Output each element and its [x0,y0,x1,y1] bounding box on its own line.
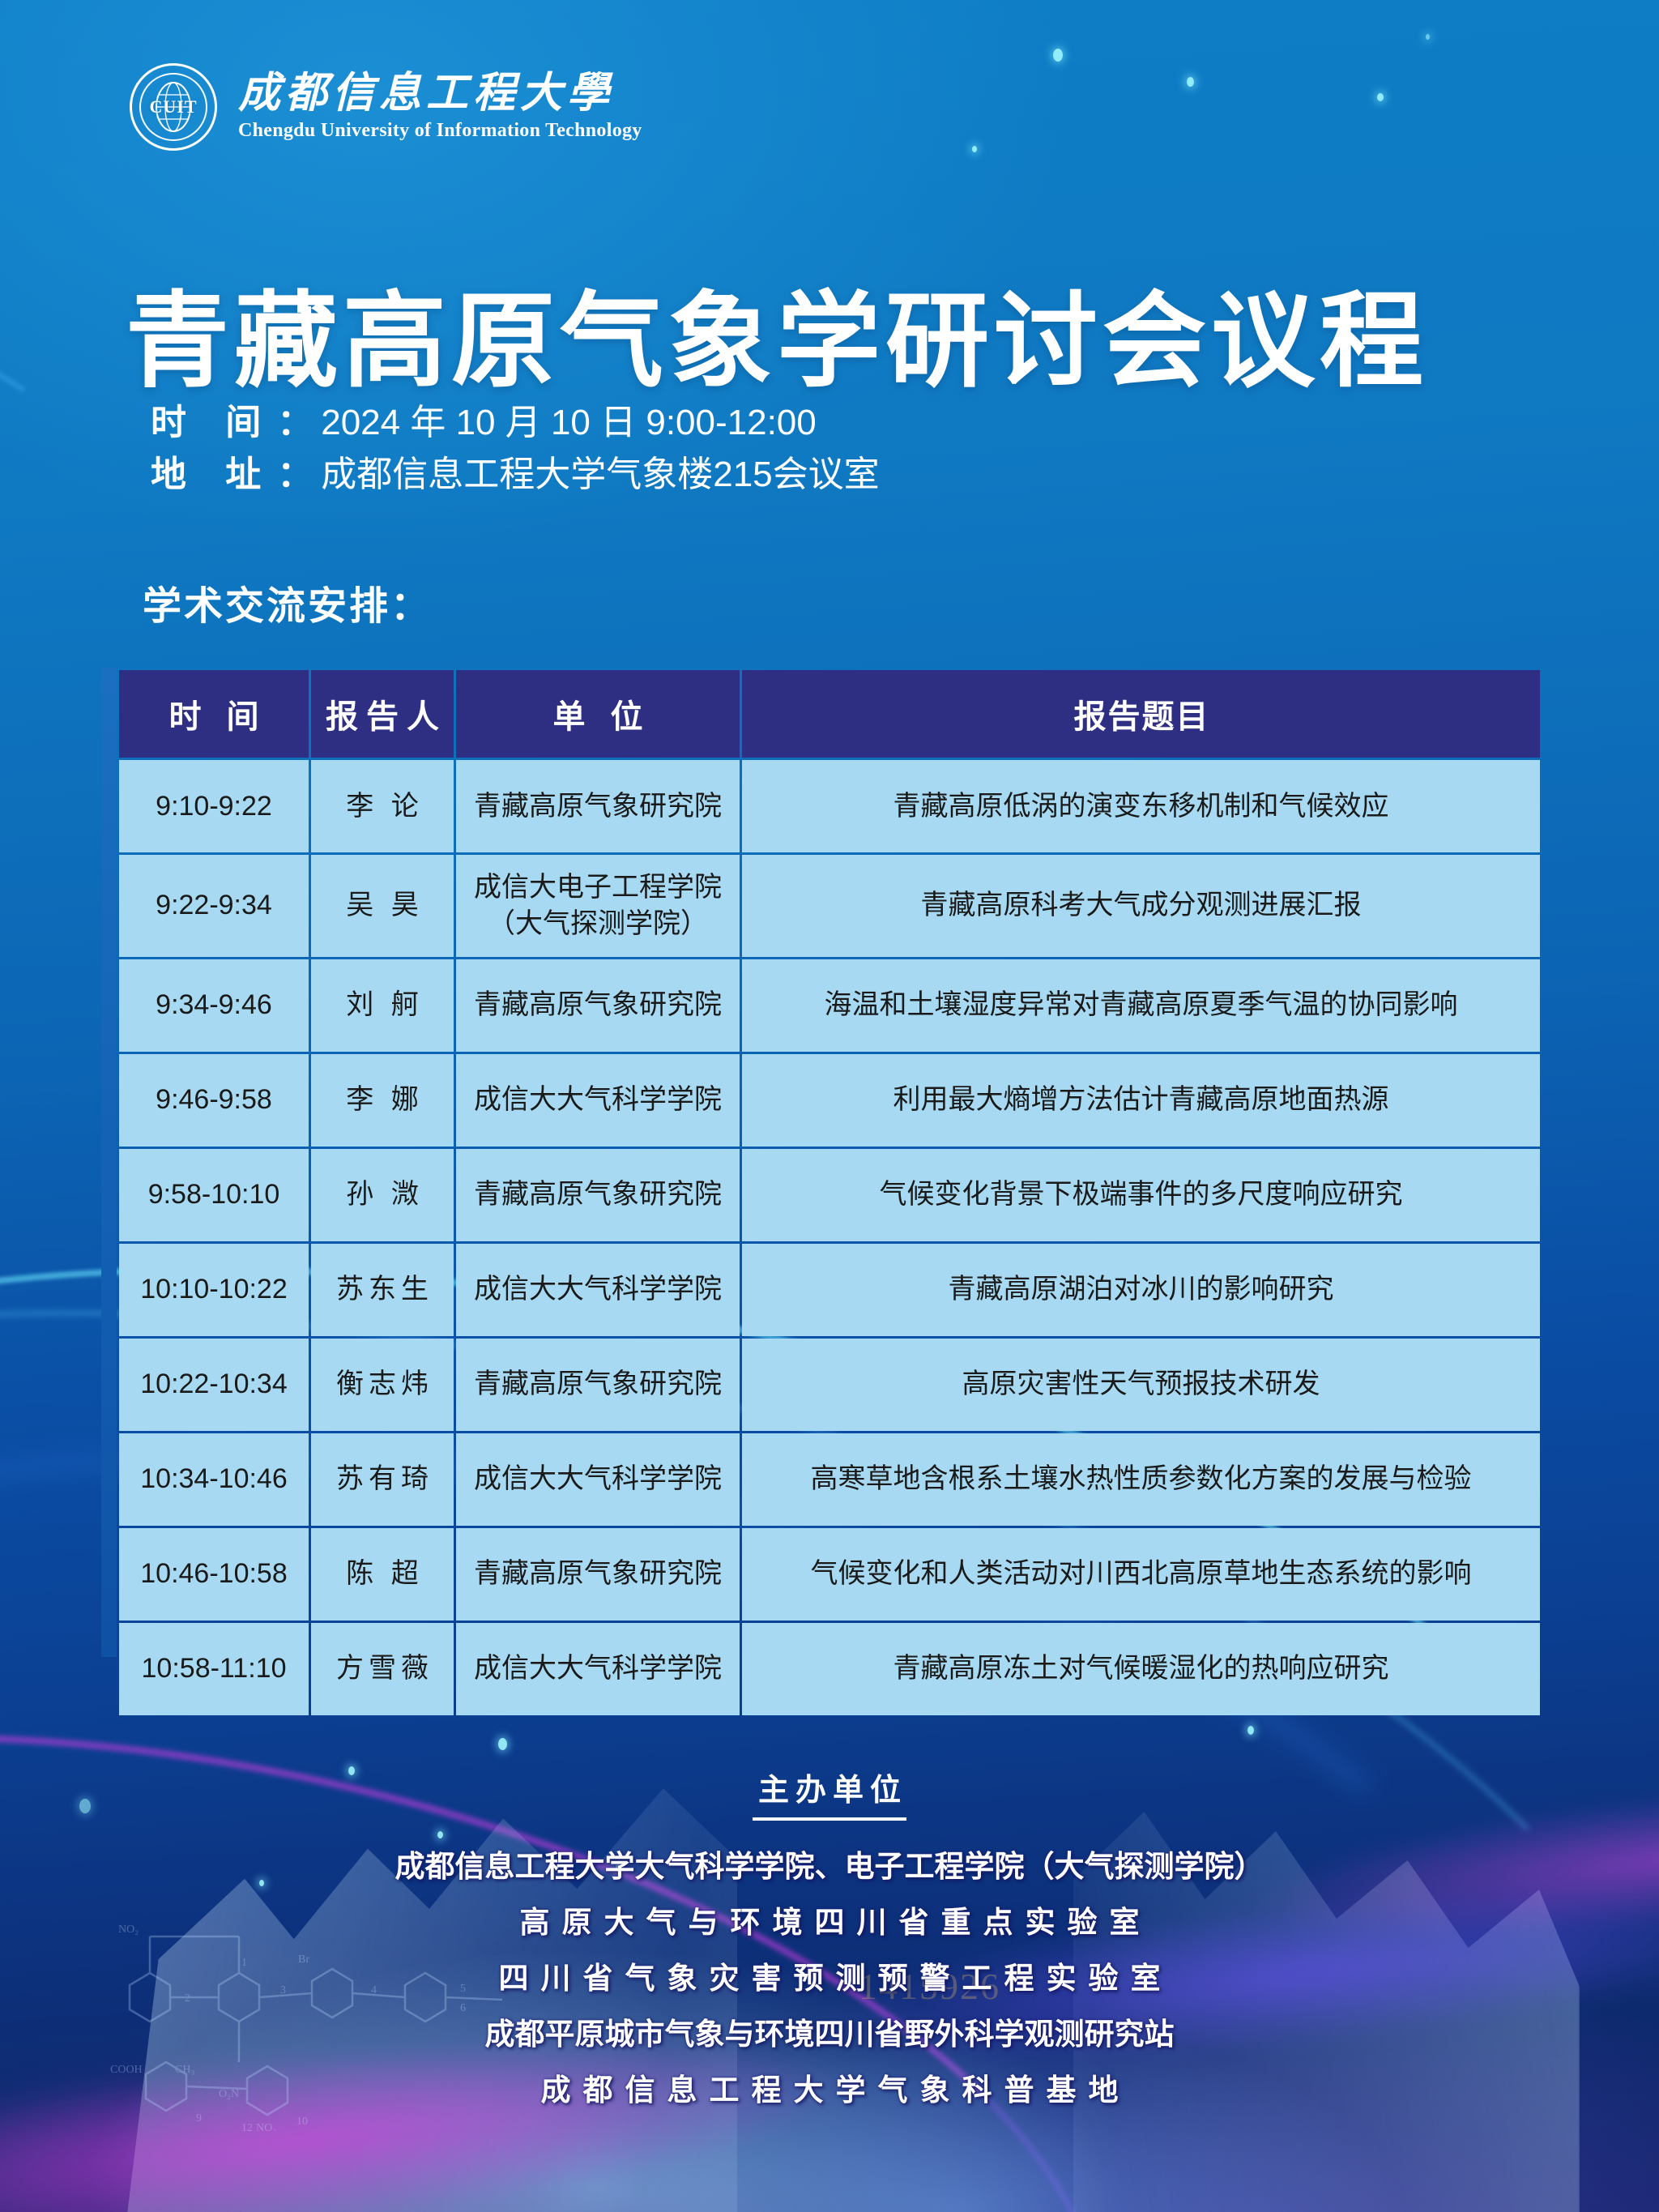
cell-speaker: 李 论 [311,760,454,852]
cell-unit: 青藏高原气象研究院 [456,959,740,1052]
cell-unit: 青藏高原气象研究院 [456,1149,740,1241]
cell-unit: 成信大电子工程学院（大气探测学院） [456,855,740,957]
cell-time: 9:58-10:10 [119,1149,309,1241]
cell-speaker: 苏东生 [311,1244,454,1336]
host-list: 成都信息工程大学大气科学学院、电子工程学院（大气探测学院） 高原大气与环境四川省… [0,1851,1659,2105]
table-row: 10:46-10:58陈 超青藏高原气象研究院气候变化和人类活动对川西北高原草地… [119,1528,1540,1621]
column-header-unit: 单 位 [456,670,740,758]
event-time-value: 2024 年 10 月 10 日 9:00-12:00 [321,397,817,449]
cell-unit: 成信大大气科学学院 [456,1623,740,1715]
cell-speaker: 苏有琦 [311,1433,454,1526]
event-place-value: 成都信息工程大学气象楼215会议室 [321,449,879,501]
cell-speaker: 刘 舸 [311,959,454,1052]
host-line-3: 四川省气象灾害预测预警工程实验室 [0,1963,1659,1993]
cell-report: 利用最大熵增方法估计青藏高原地面热源 [742,1054,1540,1147]
table-row: 9:22-9:34吴 昊成信大电子工程学院（大气探测学院）青藏高原科考大气成分观… [119,855,1540,957]
host-line-5: 成都信息工程大学气象科普基地 [0,2075,1659,2105]
university-name-en: Chengdu University of Information Techno… [238,120,642,142]
cell-unit: 青藏高原气象研究院 [456,1528,740,1621]
cell-report: 气候变化背景下极端事件的多尺度响应研究 [742,1149,1540,1241]
cell-speaker: 李 娜 [311,1054,454,1147]
table-row: 9:10-9:22李 论青藏高原气象研究院青藏高原低涡的演变东移机制和气候效应 [119,760,1540,852]
event-time-label: 时 间 [151,397,275,449]
column-header-time: 时 间 [119,670,309,758]
event-place-colon: ： [277,449,313,501]
page-title: 青藏高原气象学研讨会议程 [126,290,1428,394]
event-place-label: 地 址 [151,449,275,501]
cell-report: 高寒草地含根系土壤水热性质参数化方案的发展与检验 [742,1433,1540,1526]
poster-root: NO₂ COOH CH₃ O₂N NO₂ Br 2 3 4 5 6 1 12 9… [0,0,1659,2212]
cell-speaker: 方雪薇 [311,1623,454,1715]
footer-hosts: 主办单位 成都信息工程大学大气科学学院、电子工程学院（大气探测学院） 高原大气与… [0,1765,1659,2131]
cell-report: 高原灾害性天气预报技术研发 [742,1339,1540,1431]
cell-time: 9:46-9:58 [119,1054,309,1147]
university-name-block: 成都信息工程大學 Chengdu University of Informati… [238,72,642,142]
event-meta: 时 间 ： 2024 年 10 月 10 日 9:00-12:00 地 址 ： … [151,397,880,501]
table-row: 9:46-9:58李 娜成信大大气科学学院利用最大熵增方法估计青藏高原地面热源 [119,1054,1540,1147]
cell-report: 青藏高原低涡的演变东移机制和气候效应 [742,760,1540,852]
table-row: 10:22-10:34衡志炜青藏高原气象研究院高原灾害性天气预报技术研发 [119,1339,1540,1431]
cell-unit: 青藏高原气象研究院 [456,760,740,852]
agenda-table: 时 间 报告人 单 位 报告题目 9:10-9:22李 论青藏高原气象研究院青藏… [117,668,1542,1718]
cell-time: 10:58-11:10 [119,1623,309,1715]
host-line-2: 高原大气与环境四川省重点实验室 [0,1907,1659,1937]
cell-unit: 青藏高原气象研究院 [456,1339,740,1431]
cell-time: 9:34-9:46 [119,959,309,1052]
cuit-acronym-label: CUIT [149,96,197,117]
section-heading-agenda: 学术交流安排： [143,574,432,630]
event-time-colon: ： [277,397,313,449]
university-logo-block: CUIT 成都信息工程大學 Chengdu University of Info… [130,63,642,151]
cell-speaker: 衡志炜 [311,1339,454,1431]
cell-unit: 成信大大气科学学院 [456,1054,740,1147]
host-line-4: 成都平原城市气象与环境四川省野外科学观测研究站 [0,2019,1659,2049]
table-header-row: 时 间 报告人 单 位 报告题目 [119,670,1540,758]
column-header-report: 报告题目 [742,670,1540,758]
event-time-line: 时 间 ： 2024 年 10 月 10 日 9:00-12:00 [151,397,880,449]
cell-report: 气候变化和人类活动对川西北高原草地生态系统的影响 [742,1528,1540,1621]
cell-speaker: 吴 昊 [311,855,454,957]
cell-time: 9:22-9:34 [119,855,309,957]
cell-time: 10:34-10:46 [119,1433,309,1526]
cell-unit: 成信大大气科学学院 [456,1433,740,1526]
table-row: 10:10-10:22苏东生成信大大气科学学院青藏高原湖泊对冰川的影响研究 [119,1244,1540,1336]
host-section-label: 主办单位 [752,1765,907,1822]
table-row: 10:34-10:46苏有琦成信大大气科学学院高寒草地含根系土壤水热性质参数化方… [119,1433,1540,1526]
cell-speaker: 孙 溦 [311,1149,454,1241]
cell-report: 青藏高原冻土对气候暖湿化的热响应研究 [742,1623,1540,1715]
table-row: 9:34-9:46刘 舸青藏高原气象研究院海温和土壤湿度异常对青藏高原夏季气温的… [119,959,1540,1052]
cell-time: 10:10-10:22 [119,1244,309,1336]
table-row: 10:58-11:10方雪薇成信大大气科学学院青藏高原冻土对气候暖湿化的热响应研… [119,1623,1540,1715]
event-place-line: 地 址 ： 成都信息工程大学气象楼215会议室 [151,449,880,501]
table-left-accent-bar [101,668,117,1657]
table-row: 9:58-10:10孙 溦青藏高原气象研究院气候变化背景下极端事件的多尺度响应研… [119,1149,1540,1241]
cell-time: 10:22-10:34 [119,1339,309,1431]
cell-speaker: 陈 超 [311,1528,454,1621]
cuit-seal-logo-icon: CUIT [130,63,217,151]
agenda-table-wrapper: 时 间 报告人 单 位 报告题目 9:10-9:22李 论青藏高原气象研究院青藏… [117,668,1542,1718]
cell-unit: 成信大大气科学学院 [456,1244,740,1336]
column-header-speaker: 报告人 [311,670,454,758]
cell-report: 海温和土壤湿度异常对青藏高原夏季气温的协同影响 [742,959,1540,1052]
cell-time: 10:46-10:58 [119,1528,309,1621]
cell-time: 9:10-9:22 [119,760,309,852]
cell-report: 青藏高原湖泊对冰川的影响研究 [742,1244,1540,1336]
host-line-1: 成都信息工程大学大气科学学院、电子工程学院（大气探测学院） [0,1851,1659,1881]
agenda-table-body: 9:10-9:22李 论青藏高原气象研究院青藏高原低涡的演变东移机制和气候效应9… [119,760,1540,1715]
cell-report: 青藏高原科考大气成分观测进展汇报 [742,855,1540,957]
university-name-cn: 成都信息工程大學 [238,72,642,117]
